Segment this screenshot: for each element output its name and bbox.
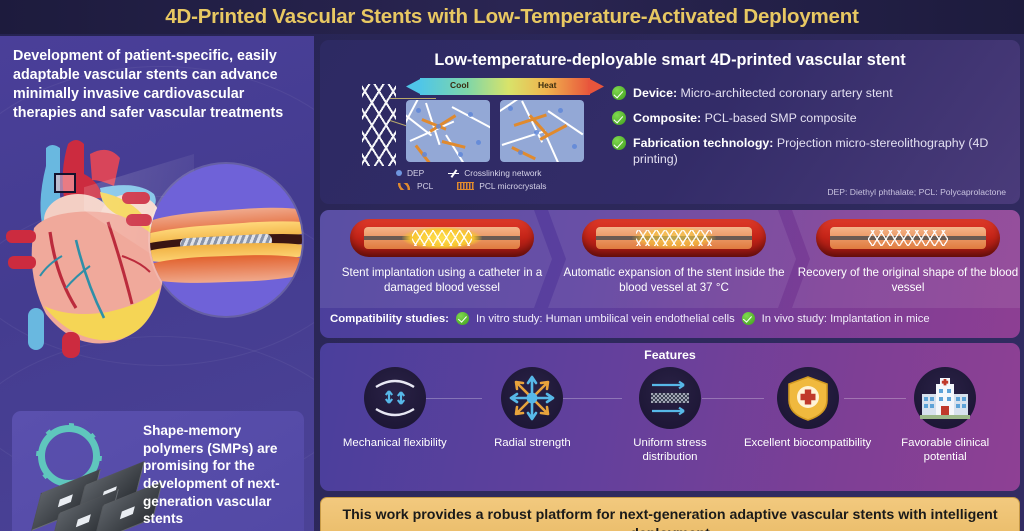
check-icon (612, 111, 626, 125)
arrow-label-cool: Cool (450, 80, 469, 90)
vessel-step-3 (816, 219, 1000, 257)
top-panel: Low-temperature-deployable smart 4D-prin… (320, 40, 1020, 204)
shield-cross-icon (777, 367, 839, 429)
process-panel: Stent implantation using a catheter in a… (320, 210, 1020, 338)
compatibility-row: Compatibility studies: In vitro study: H… (330, 312, 1014, 325)
features-list: Mechanical flexibility (326, 367, 1014, 487)
step-label: Recovery of the original shape of the bl… (786, 266, 1020, 296)
conclusion-banner: This work provides a robust platform for… (320, 497, 1020, 531)
feature-label: Excellent biocompatibility (744, 436, 871, 450)
arrow-tip-right-icon (588, 78, 604, 95)
feature-item: Excellent biocompatibility (744, 367, 872, 450)
crosslink-icon (448, 169, 459, 178)
network-state-heated (500, 100, 584, 162)
heart-illustration (0, 136, 314, 371)
vessel-step-1 (350, 219, 534, 257)
smp-illustration (22, 419, 152, 531)
hospital-icon (914, 367, 976, 429)
graphical-abstract: 4D-Printed Vascular Stents with Low-Temp… (0, 0, 1024, 531)
features-panel: Features (320, 343, 1020, 491)
check-icon (456, 312, 469, 325)
radial-strength-icon (501, 367, 563, 429)
title-bar: 4D-Printed Vascular Stents with Low-Temp… (0, 0, 1024, 34)
compatibility-item: In vitro study: Human umbilical vein end… (476, 313, 735, 325)
list-item: Fabrication technology: Projection micro… (612, 135, 1012, 167)
step-label: Stent implantation using a catheter in a… (320, 266, 564, 296)
legend-row: PCL PCL microcrystals (396, 181, 636, 191)
leader-line (390, 98, 436, 99)
network-state-cooled (406, 100, 490, 162)
abbreviations-note: DEP: Diethyl phthalate; PCL: Polycaprola… (827, 187, 1006, 197)
lead-statement: Development of patient-specific, easily … (13, 47, 305, 122)
check-icon (612, 136, 626, 150)
wave-icon (396, 183, 412, 190)
lesion-marker (54, 173, 76, 193)
microcrystal-icon (457, 182, 474, 190)
legend-label: PCL microcrystals (479, 181, 546, 191)
stent-mesh-icon (362, 84, 396, 166)
uniform-stress-icon (639, 367, 701, 429)
mechanism-illustration: Cool Heat (340, 78, 630, 198)
feature-label: Uniform stress distribution (606, 436, 734, 465)
feature-item: Radial strength (468, 367, 596, 450)
step-label: Automatic expansion of the stent inside … (552, 266, 796, 296)
legend-label: DEP (407, 168, 424, 178)
feature-item: Mechanical flexibility (331, 367, 459, 450)
compatibility-item: In vivo study: Implantation in mice (762, 313, 930, 325)
list-item: Composite: PCL-based SMP composite (612, 110, 1012, 126)
page-title: 4D-Printed Vascular Stents with Low-Temp… (165, 5, 858, 29)
dot-icon (396, 170, 402, 176)
vessel-step-2 (582, 219, 766, 257)
flexibility-icon (364, 367, 426, 429)
artery-zoom-view (150, 164, 302, 316)
legend-row: DEP Crosslinking network (396, 168, 636, 178)
smp-statement: Shape-memory polymers (SMPs) are promisi… (143, 422, 291, 528)
spec-value: Micro-architected coronary artery stent (681, 86, 893, 100)
feature-item: Favorable clinical potential (881, 367, 1009, 465)
spec-label: Composite: (633, 111, 701, 125)
legend-label: PCL (417, 181, 433, 191)
list-item: Device: Micro-architected coronary arter… (612, 85, 1012, 101)
spec-label: Fabrication technology: (633, 136, 773, 150)
feature-item: Uniform stress distribution (606, 367, 734, 465)
check-icon (742, 312, 755, 325)
feature-label: Mechanical flexibility (343, 436, 447, 450)
mechanism-legend: DEP Crosslinking network PCL PCL microcr… (396, 168, 636, 194)
top-panel-heading: Low-temperature-deployable smart 4D-prin… (320, 51, 1020, 70)
feature-label: Favorable clinical potential (881, 436, 1009, 465)
check-icon (612, 86, 626, 100)
spec-label: Device: (633, 86, 677, 100)
right-column: Low-temperature-deployable smart 4D-prin… (320, 40, 1020, 527)
conclusion-text: This work provides a robust platform for… (321, 506, 1019, 531)
compatibility-heading: Compatibility studies: (330, 313, 449, 325)
smp-callout-box: Shape-memory polymers (SMPs) are promisi… (12, 411, 304, 531)
legend-label: Crosslinking network (464, 168, 541, 178)
feature-label: Radial strength (494, 436, 571, 450)
spec-value: PCL-based SMP composite (705, 111, 857, 125)
specs-list: Device: Micro-architected coronary arter… (612, 85, 1012, 177)
temperature-gradient-bar (420, 78, 590, 95)
arrow-label-heat: Heat (538, 80, 556, 90)
cool-heat-arrow: Cool Heat (406, 78, 604, 95)
features-heading: Features (320, 348, 1020, 362)
left-column: Development of patient-specific, easily … (0, 36, 314, 531)
